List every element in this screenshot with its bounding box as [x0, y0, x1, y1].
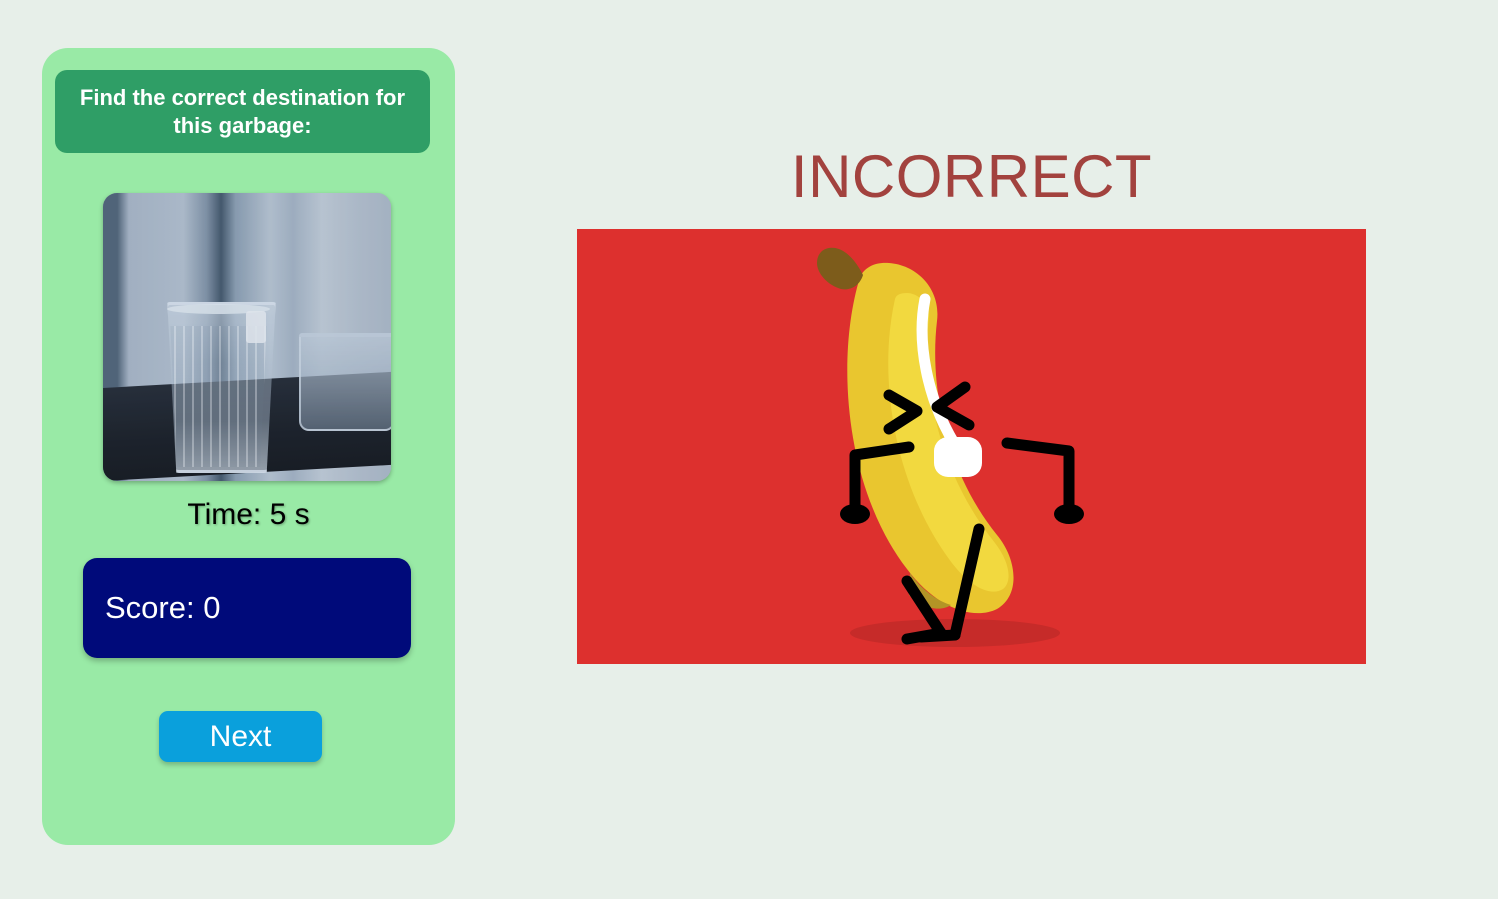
- feedback-image-panel: [577, 229, 1366, 664]
- prompt-banner: Find the correct destination for this ga…: [55, 70, 430, 153]
- game-card: Find the correct destination for this ga…: [42, 48, 455, 845]
- sad-banana-icon: [577, 229, 1366, 664]
- feedback-title: INCORRECT: [577, 142, 1366, 211]
- garbage-item-photo: [103, 193, 391, 481]
- score-panel: Score: 0: [83, 558, 411, 658]
- next-button[interactable]: Next: [159, 711, 322, 762]
- score-text: Score: 0: [105, 590, 220, 626]
- photo-blue-tint: [103, 193, 391, 481]
- time-label: Time: 5 s: [42, 498, 455, 532]
